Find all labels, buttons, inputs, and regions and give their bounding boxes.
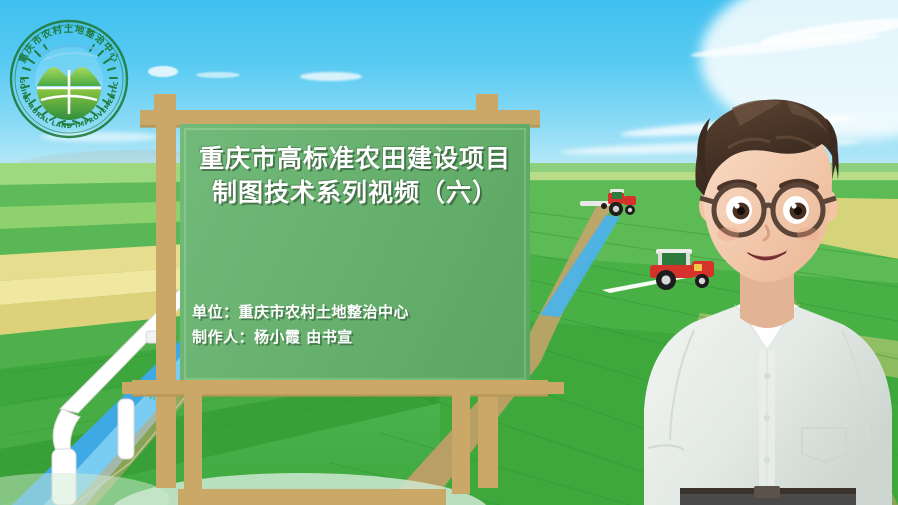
board-title: 重庆市高标准农田建设项目 制图技术系列视频（六） — [180, 142, 530, 210]
signboard-rail-stub — [548, 382, 564, 394]
title-card-scene: 重庆市高标准农田建设项目 制图技术系列视频（六） 单位：重庆市农村土地整治中心 … — [0, 0, 898, 505]
board-credit-author: 制作人：杨小霞 由书宣 — [192, 325, 542, 350]
presenter-character — [636, 30, 898, 505]
signboard-right-leg — [452, 394, 470, 494]
signboard-rail-stub — [122, 382, 136, 394]
character-cheek — [797, 227, 819, 241]
board-credits: 单位：重庆市农村土地整治中心 制作人：杨小霞 由书宣 — [182, 300, 542, 350]
signboard-left-post — [156, 110, 176, 488]
signboard-left-leg — [184, 394, 202, 494]
signboard-foot-brace — [178, 489, 446, 505]
board-title-line1: 重庆市高标准农田建设项目 — [180, 142, 530, 176]
cloud-icon — [196, 72, 240, 78]
signboard: 重庆市高标准农田建设项目 制图技术系列视频（六） 单位：重庆市农村土地整治中心 … — [140, 94, 566, 404]
board-credit-unit: 单位：重庆市农村土地整治中心 — [192, 300, 542, 325]
organization-logo: 重庆市农村土地整治中心 CHONGQING RURAL LAND IMPROVE… — [4, 14, 134, 144]
character-torso — [644, 300, 892, 505]
cloud-icon — [300, 72, 362, 81]
board-title-line2: 制图技术系列视频（六） — [180, 176, 530, 210]
logo-emblem — [35, 46, 103, 120]
character-cheek — [717, 227, 739, 241]
cloud-icon — [148, 66, 178, 77]
